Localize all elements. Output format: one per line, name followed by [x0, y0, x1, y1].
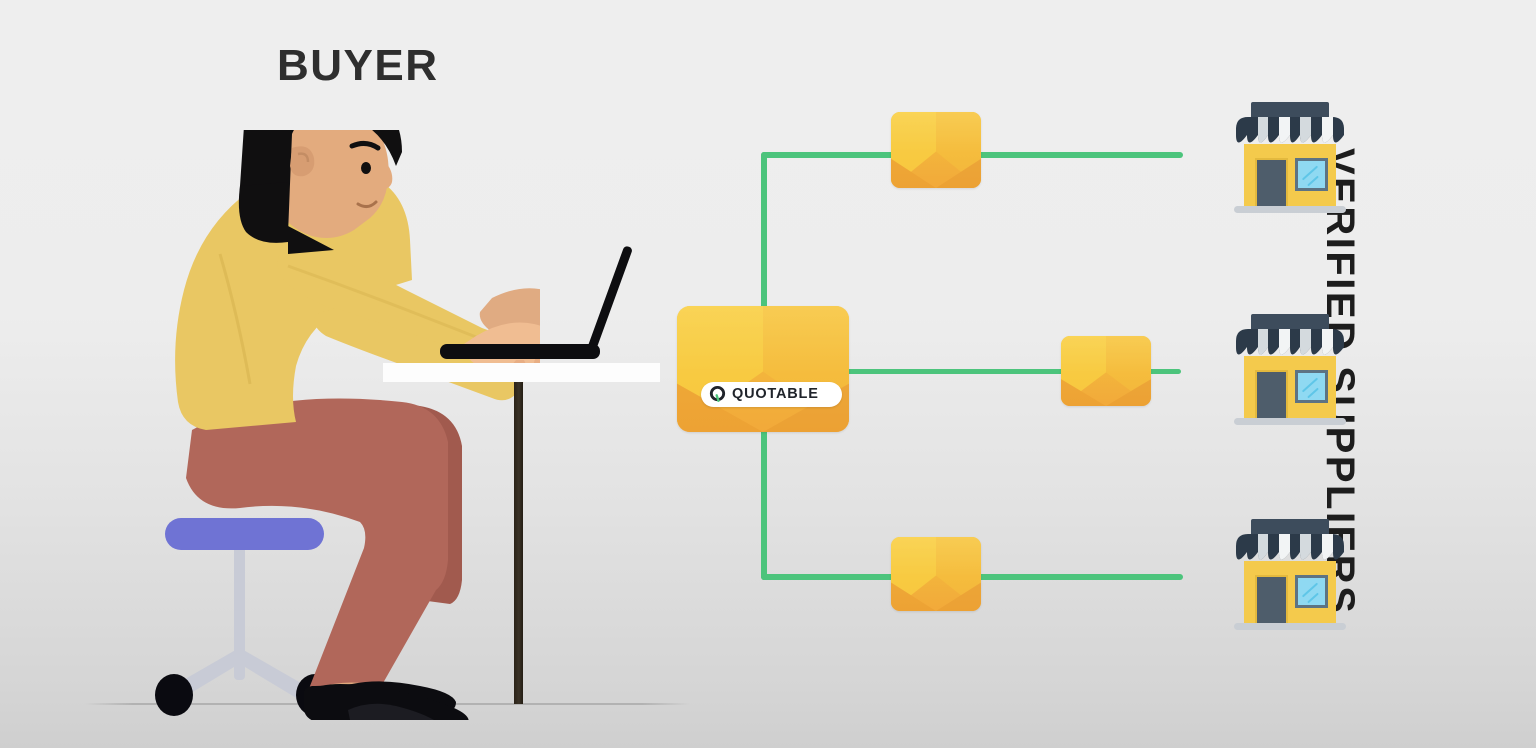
- envelope-sheen: [891, 537, 981, 611]
- shop-door: [1255, 158, 1288, 209]
- desk-top: [383, 363, 660, 382]
- supplier-shop-2[interactable]: [1230, 308, 1350, 428]
- ear: [290, 146, 314, 176]
- quotable-hub-envelope[interactable]: QUOTABLE: [677, 306, 849, 432]
- envelope-body: [891, 112, 981, 188]
- envelope-middle[interactable]: [1061, 336, 1151, 406]
- quotable-logo-badge[interactable]: QUOTABLE: [701, 382, 842, 407]
- shop-door: [1255, 370, 1288, 421]
- shop-roof-bar: [1251, 314, 1329, 330]
- quotable-logo-text: QUOTABLE: [732, 387, 819, 402]
- shop-base: [1234, 418, 1346, 425]
- shop-base: [1234, 623, 1346, 630]
- shop-window-glass: [1298, 161, 1325, 188]
- envelope-top[interactable]: [891, 112, 981, 188]
- envelope-bottom[interactable]: [891, 537, 981, 611]
- window-glint-2: [1307, 593, 1319, 604]
- envelope-sheen: [891, 112, 981, 188]
- window-glint-2: [1307, 176, 1319, 187]
- shop-roof-bar: [1251, 102, 1329, 118]
- desk-leg: [514, 382, 523, 704]
- envelope-body: [677, 306, 849, 432]
- envelope-sheen: [1061, 336, 1151, 406]
- shop-window-glass: [1298, 373, 1325, 400]
- quotable-q-mark-icon: [708, 385, 727, 404]
- illustration-canvas: BUYER VERIFIED SUPPLIERS: [0, 0, 1536, 748]
- buyer-illustration: [120, 130, 540, 720]
- shop-window-frame: [1295, 575, 1328, 608]
- laptop-base: [440, 344, 600, 359]
- supplier-shop-3[interactable]: [1230, 513, 1350, 633]
- eye: [361, 162, 371, 174]
- shop-roof-bar: [1251, 519, 1329, 535]
- shop-base: [1234, 206, 1346, 213]
- shop-door: [1255, 575, 1288, 626]
- chair-caster-left: [155, 674, 193, 716]
- window-glint-2: [1307, 388, 1319, 399]
- shop-window-frame: [1295, 158, 1328, 191]
- shop-window-frame: [1295, 370, 1328, 403]
- envelope-sheen: [677, 306, 849, 432]
- shop-window-glass: [1298, 578, 1325, 605]
- office-chair: [155, 518, 334, 716]
- supplier-shop-1[interactable]: [1230, 96, 1350, 216]
- envelope-body: [891, 537, 981, 611]
- chair-seat: [165, 518, 324, 550]
- buyer-label: BUYER: [277, 44, 439, 88]
- laptop-screen: [586, 245, 633, 353]
- envelope-body: [1061, 336, 1151, 406]
